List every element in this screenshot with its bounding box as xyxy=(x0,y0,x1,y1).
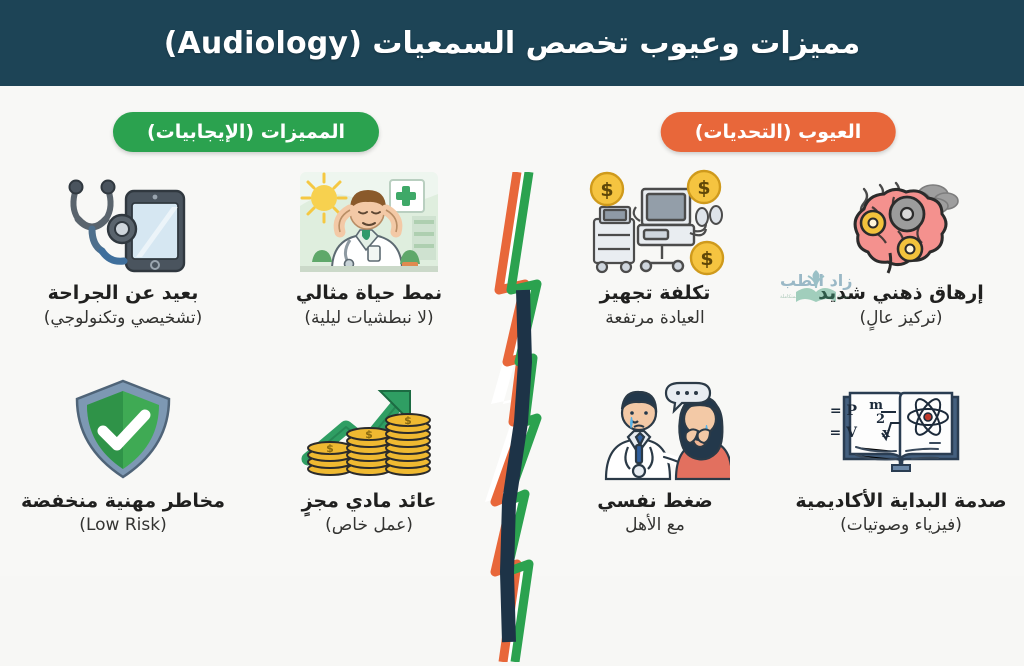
negative-items-grid: إرهاق ذهني شديد (تركيز عالٍ) xyxy=(532,158,1024,573)
positive-item-0: بعيد عن الجراحة (تشخيصي وتكنولوجي) xyxy=(0,158,246,366)
positive-item-2-caption: مخاطر مهنية منخفضة (Low Risk) xyxy=(21,490,225,537)
positive-item-0-title: بعيد عن الجراحة xyxy=(44,282,202,306)
negative-item-2-subtitle: (فيزياء وصوتيات) xyxy=(795,514,1006,536)
positive-column: المميزات (الإيجابيات) xyxy=(0,86,492,576)
positive-item-3: $ $ xyxy=(246,366,492,574)
page-title: مميزات وعيوب تخصص السمعيات (Audiology) xyxy=(164,27,860,60)
negative-item-1-caption: تكلفة تجهيز العيادة مرتفعة xyxy=(600,282,711,329)
svg-text:2: 2 xyxy=(876,412,885,427)
positive-item-1-title: نمط حياة مثالي xyxy=(296,282,442,306)
coins-growth-arrow-icon: $ $ xyxy=(294,374,444,486)
svg-text:$: $ xyxy=(700,248,713,270)
negative-column: العيوب (التحديات) xyxy=(532,86,1024,576)
comparison-board: العيوب (التحديات) xyxy=(0,86,1024,576)
doctor-crying-patient-icon xyxy=(580,374,730,486)
stethoscope-tablet-icon xyxy=(48,166,198,278)
positive-item-3-subtitle: (عمل خاص) xyxy=(302,514,437,536)
positive-item-2-title: مخاطر مهنية منخفضة xyxy=(21,490,225,514)
svg-text:$: $ xyxy=(697,177,710,199)
svg-text:$: $ xyxy=(326,442,334,455)
svg-text:V =: V = xyxy=(830,425,859,441)
svg-text:P =: P = xyxy=(830,403,858,419)
svg-text:m: m xyxy=(869,398,883,413)
positive-section-badge: المميزات (الإيجابيات) xyxy=(113,112,379,152)
positive-item-2: مخاطر مهنية منخفضة (Low Risk) xyxy=(0,366,246,574)
negative-item-1-title: تكلفة تجهيز xyxy=(600,282,711,306)
positive-item-3-caption: عائد مادي مجزٍ (عمل خاص) xyxy=(302,490,437,537)
open-book-physics-atom-icon: P = m 2 V = x xyxy=(826,374,976,486)
negative-item-1-subtitle: العيادة مرتفعة xyxy=(600,307,711,329)
positive-item-3-title: عائد مادي مجزٍ xyxy=(302,490,437,514)
positive-items-grid: نمط حياة مثالي (لا نبطشيات ليلية) xyxy=(0,158,492,573)
green-shield-check-icon xyxy=(63,374,183,486)
negative-item-3-subtitle: مع الأهل xyxy=(597,514,712,536)
brand-watermark: زاد الطب بوابتك إلى الحياة الطبية المتكا… xyxy=(735,258,863,320)
svg-text:$: $ xyxy=(600,179,613,201)
negative-section-badge: العيوب (التحديات) xyxy=(661,112,896,152)
positive-item-0-subtitle: (تشخيصي وتكنولوجي) xyxy=(44,307,202,329)
negative-item-3: ضغط نفسي مع الأهل xyxy=(532,366,778,574)
svg-text:$: $ xyxy=(365,428,373,441)
svg-text:$: $ xyxy=(404,414,412,427)
positive-item-1-caption: نمط حياة مثالي (لا نبطشيات ليلية) xyxy=(296,282,442,329)
header-banner: مميزات وعيوب تخصص السمعيات (Audiology) xyxy=(0,0,1024,86)
negative-item-2-caption: صدمة البداية الأكاديمية (فيزياء وصوتيات) xyxy=(795,490,1006,537)
positive-item-1-subtitle: (لا نبطشيات ليلية) xyxy=(296,307,442,329)
positive-item-2-subtitle: (Low Risk) xyxy=(21,514,225,536)
positive-item-0-caption: بعيد عن الجراحة (تشخيصي وتكنولوجي) xyxy=(44,282,202,329)
relaxed-doctor-sun-icon xyxy=(292,166,446,278)
negative-item-2-title: صدمة البداية الأكاديمية xyxy=(795,490,1006,514)
negative-item-3-caption: ضغط نفسي مع الأهل xyxy=(597,490,712,537)
negative-item-3-title: ضغط نفسي xyxy=(597,490,712,514)
negative-item-2: P = m 2 V = x xyxy=(778,366,1024,574)
infographic-page: مميزات وعيوب تخصص السمعيات (Audiology) ا… xyxy=(0,0,1024,576)
svg-text:x: x xyxy=(882,426,890,441)
medical-equipment-money-icon: $ $ $ xyxy=(580,166,730,278)
positive-item-1: نمط حياة مثالي (لا نبطشيات ليلية) xyxy=(246,158,492,366)
